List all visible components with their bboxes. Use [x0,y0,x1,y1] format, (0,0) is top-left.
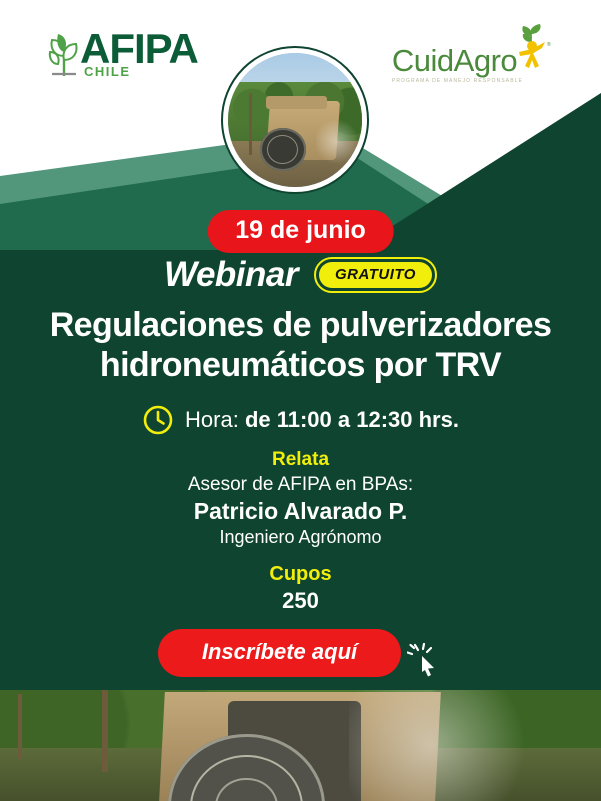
speaker-role: Asesor de AFIPA en BPAs: [0,472,601,497]
speaker-block: Relata Asesor de AFIPA en BPAs: Patricio… [0,448,601,549]
speaker-section-label: Relata [0,448,601,472]
cuidagro-wordmark: CuidAgro PROGRAMA DE MANEJO RESPONSABLE [392,45,523,84]
price-badge: GRATUITO [314,257,437,293]
event-date-badge: 19 de junio [207,210,394,253]
photo-sprayer-fan [260,128,306,171]
leaf-plant-icon [44,30,84,80]
afipa-logo: AFIPA CHILE [44,28,198,80]
event-time-value: de 11:00 a 12:30 hrs. [245,407,459,432]
cuidagro-tagline: PROGRAMA DE MANEJO RESPONSABLE [392,78,523,84]
photo-sprayer-top [266,96,328,109]
capacity-value: 250 [0,587,601,615]
photo-spray-dust [316,117,356,165]
speaker-profession: Ingeniero Agrónomo [0,525,601,549]
footer-photo-spray-dust [349,690,553,801]
svg-text:®: ® [547,41,551,48]
price-badge-label: GRATUITO [319,262,432,288]
footer-photo [0,690,601,801]
cuidagro-name: CuidAgro [392,45,517,77]
speaker-name: Patricio Alvarado P. [0,497,601,525]
event-type-label: Webinar [164,255,298,295]
clock-icon [142,404,174,436]
event-title: Regulaciones de pulverizadores hidroneum… [0,305,601,385]
hero-photo-circle [221,46,369,194]
person-plant-icon: ® [511,22,553,82]
register-button[interactable]: Inscríbete aquí [158,629,401,677]
afipa-country: CHILE [84,64,198,79]
capacity-block: Cupos 250 [0,562,601,615]
cuidagro-logo: CuidAgro PROGRAMA DE MANEJO RESPONSABLE … [392,22,553,84]
photo-post [249,93,252,155]
footer-photo-post [102,690,108,772]
webinar-row: Webinar GRATUITO [0,255,601,295]
event-time-label: Hora: [185,407,239,432]
cta-row: Inscríbete aquí [0,624,601,682]
footer-photo-post-left [18,694,22,758]
webinar-flyer: AFIPA CHILE CuidAgro PROGRAMA DE MANEJO … [0,0,601,801]
orchard-sprayer-photo [228,53,362,187]
capacity-label: Cupos [0,562,601,587]
event-time-row: Hora: de 11:00 a 12:30 hrs. [0,404,601,436]
afipa-wordmark: AFIPA CHILE [80,28,198,79]
click-cursor-icon [407,642,443,682]
event-time-text: Hora: de 11:00 a 12:30 hrs. [185,407,459,433]
